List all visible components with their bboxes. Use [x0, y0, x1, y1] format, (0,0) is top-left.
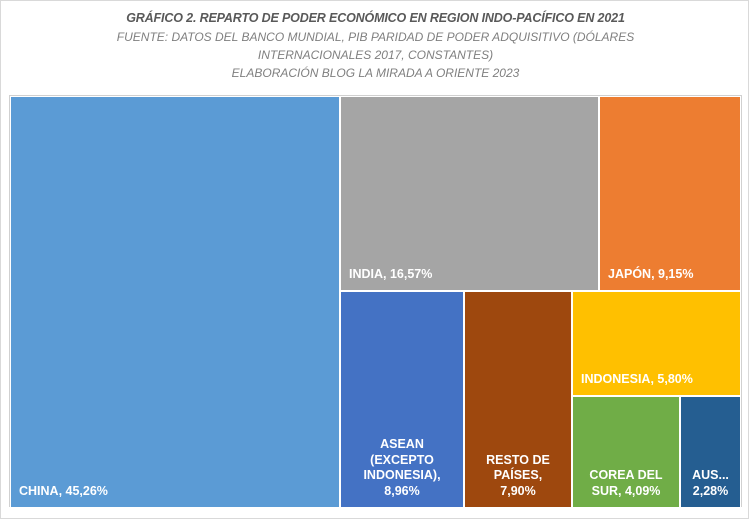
treemap-plot-area: CHINA, 45,26%INDIA, 16,57%JAPÓN, 9,15%AS… — [9, 95, 742, 507]
treemap-tile-china[interactable]: CHINA, 45,26% — [10, 96, 340, 508]
chart-credit-line: ELABORACIÓN BLOG LA MIRADA A ORIENTE 202… — [1, 64, 749, 82]
treemap-tile-resto[interactable]: RESTO DE PAÍSES, 7,90% — [464, 291, 572, 508]
treemap-label-china: CHINA, 45,26% — [19, 484, 108, 500]
treemap-label-indonesia: INDONESIA, 5,80% — [581, 372, 693, 388]
treemap-tile-indonesia[interactable]: INDONESIA, 5,80% — [572, 291, 741, 396]
page-title: GRÁFICO 2. REPARTO DE PODER ECONÓMICO EN… — [1, 9, 749, 28]
treemap-tile-japon[interactable]: JAPÓN, 9,15% — [599, 96, 741, 291]
chart-source-line-2: INTERNACIONALES 2017, CONSTANTES) — [1, 46, 749, 64]
treemap-tile-corea[interactable]: COREA DEL SUR, 4,09% — [572, 396, 680, 508]
treemap-label-japon: JAPÓN, 9,15% — [608, 267, 693, 283]
treemap-tile-australia[interactable]: AUS... 2,28% — [680, 396, 741, 508]
chart-title-block: GRÁFICO 2. REPARTO DE PODER ECONÓMICO EN… — [1, 9, 749, 82]
treemap-tile-india[interactable]: INDIA, 16,57% — [340, 96, 599, 291]
treemap-label-corea: COREA DEL SUR, 4,09% — [573, 468, 679, 499]
chart-source-line-1: FUENTE: DATOS DEL BANCO MUNDIAL, PIB PAR… — [1, 28, 749, 46]
treemap-label-australia: AUS... 2,28% — [681, 468, 740, 499]
treemap-label-india: INDIA, 16,57% — [349, 267, 432, 283]
treemap-tile-asean[interactable]: ASEAN (EXCEPTO INDONESIA), 8,96% — [340, 291, 464, 508]
treemap-label-resto: RESTO DE PAÍSES, 7,90% — [465, 453, 571, 500]
treemap-label-asean: ASEAN (EXCEPTO INDONESIA), 8,96% — [341, 437, 463, 499]
chart-page: GRÁFICO 2. REPARTO DE PODER ECONÓMICO EN… — [0, 0, 749, 519]
